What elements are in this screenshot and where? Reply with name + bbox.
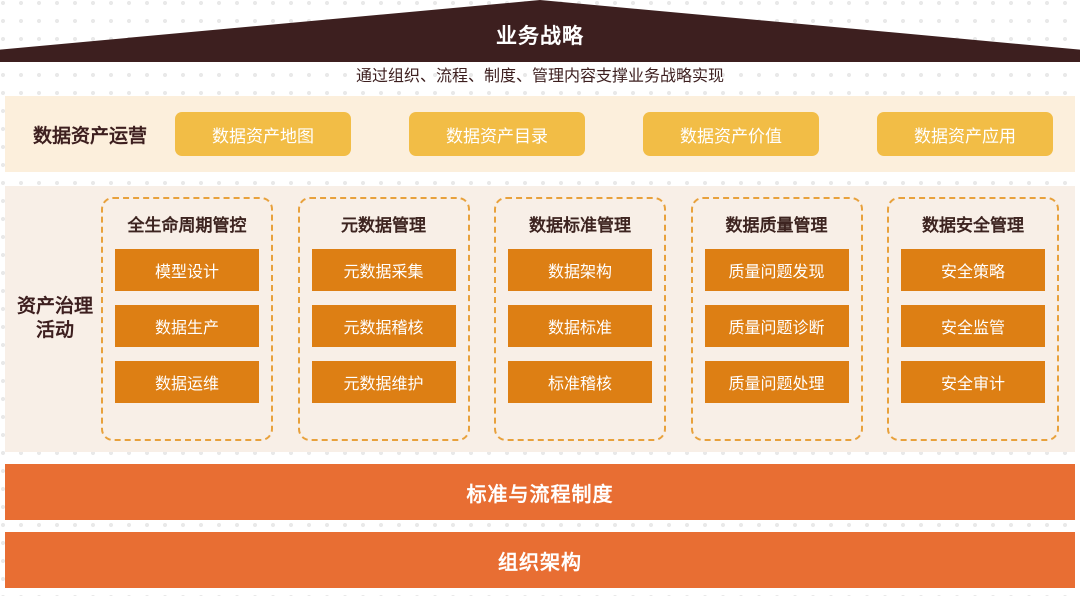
diagram-canvas: 业务战略 通过组织、流程、制度、管理内容支撑业务战略实现 数据资产运营 数据资产… [0, 0, 1080, 596]
operations-chip[interactable]: 数据资产价值 [643, 112, 819, 156]
column-item[interactable]: 安全监管 [901, 305, 1045, 347]
business-strategy-label: 业务战略 [0, 20, 1080, 50]
foundation-bar-standards[interactable]: 标准与流程制度 [5, 464, 1075, 520]
column-item[interactable]: 数据标准 [508, 305, 652, 347]
business-strategy-roof: 业务战略 [0, 0, 1080, 62]
foundation-bar-organization[interactable]: 组织架构 [5, 532, 1075, 588]
governance-column-metadata[interactable]: 元数据管理 元数据采集 元数据稽核 元数据维护 [298, 197, 470, 441]
operations-chip[interactable]: 数据资产地图 [175, 112, 351, 156]
column-item[interactable]: 安全策略 [901, 249, 1045, 291]
column-item[interactable]: 模型设计 [115, 249, 259, 291]
governance-column-standards[interactable]: 数据标准管理 数据架构 数据标准 标准稽核 [494, 197, 666, 441]
column-title: 数据安全管理 [922, 211, 1024, 236]
governance-row-title: 资产治理活动 [5, 295, 101, 343]
column-item[interactable]: 质量问题处理 [705, 361, 849, 403]
governance-column-lifecycle[interactable]: 全生命周期管控 模型设计 数据生产 数据运维 [101, 197, 273, 441]
column-item[interactable]: 元数据维护 [312, 361, 456, 403]
operations-row-title: 数据资产运营 [5, 121, 175, 148]
column-title: 元数据管理 [341, 211, 426, 236]
column-item[interactable]: 数据运维 [115, 361, 259, 403]
column-item[interactable]: 标准稽核 [508, 361, 652, 403]
operations-chip[interactable]: 数据资产目录 [409, 112, 585, 156]
column-item[interactable]: 元数据采集 [312, 249, 456, 291]
column-title: 数据质量管理 [726, 211, 828, 236]
operations-chip[interactable]: 数据资产应用 [877, 112, 1053, 156]
column-item[interactable]: 质量问题诊断 [705, 305, 849, 347]
column-title: 数据标准管理 [529, 211, 631, 236]
column-item[interactable]: 数据生产 [115, 305, 259, 347]
operations-chip-list: 数据资产地图 数据资产目录 数据资产价值 数据资产应用 [175, 112, 1075, 156]
data-asset-operations-band: 数据资产运营 数据资产地图 数据资产目录 数据资产价值 数据资产应用 [5, 96, 1075, 172]
column-item[interactable]: 质量问题发现 [705, 249, 849, 291]
governance-column-list: 全生命周期管控 模型设计 数据生产 数据运维 元数据管理 元数据采集 元数据稽核… [101, 197, 1075, 441]
column-title: 全生命周期管控 [128, 211, 247, 236]
asset-governance-panel: 资产治理活动 全生命周期管控 模型设计 数据生产 数据运维 元数据管理 元数据采… [5, 186, 1075, 452]
column-item[interactable]: 数据架构 [508, 249, 652, 291]
strategy-subtitle: 通过组织、流程、制度、管理内容支撑业务战略实现 [0, 64, 1080, 90]
governance-column-quality[interactable]: 数据质量管理 质量问题发现 质量问题诊断 质量问题处理 [691, 197, 863, 441]
column-item[interactable]: 安全审计 [901, 361, 1045, 403]
column-item[interactable]: 元数据稽核 [312, 305, 456, 347]
governance-column-security[interactable]: 数据安全管理 安全策略 安全监管 安全审计 [887, 197, 1059, 441]
